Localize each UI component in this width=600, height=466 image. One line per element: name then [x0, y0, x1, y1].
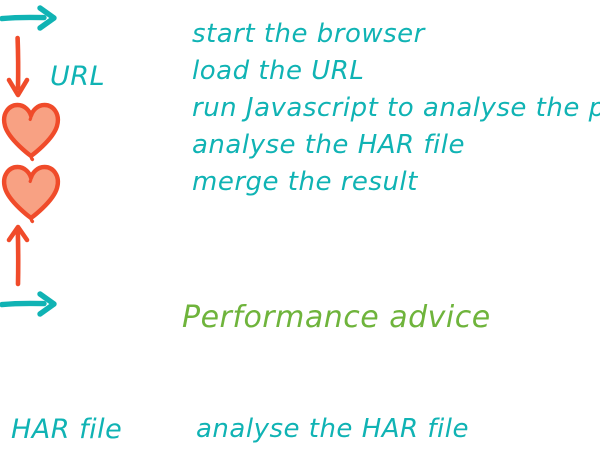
step-list: start the browser load the URL run Javas… [192, 16, 592, 201]
url-input-label: URL [50, 61, 105, 92]
arrow-down-icon [0, 36, 36, 100]
heart-icon [0, 100, 62, 162]
list-item: start the browser [192, 16, 592, 53]
heart-icon [0, 162, 62, 224]
list-item: load the URL [192, 53, 592, 90]
arrow-up-icon [0, 224, 36, 286]
arrow-right-icon [0, 286, 72, 322]
list-item: run Javascript to analyse the page [192, 90, 592, 127]
bottom-step-label: analyse the HAR file [196, 414, 469, 444]
list-item: merge the result [192, 164, 592, 201]
har-input-label: HAR file [11, 414, 122, 445]
arrow-right-icon [0, 0, 72, 36]
list-item: analyse the HAR file [192, 127, 592, 164]
page-title: Performance advice [182, 300, 491, 335]
diagram-canvas: URL start the browser load the URL run J… [0, 0, 600, 466]
